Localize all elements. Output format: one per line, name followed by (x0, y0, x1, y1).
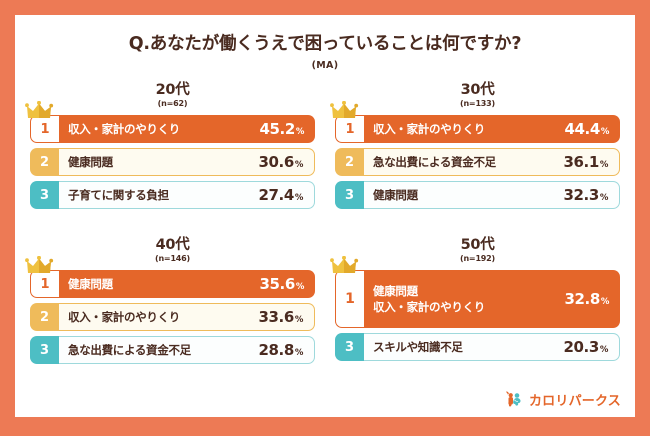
ranking-row[interactable]: 3健康問題32.3% (335, 181, 620, 209)
question-type-note: (MA) (15, 60, 635, 71)
answer-label: 健康問題 (68, 276, 259, 293)
answer-label: スキルや知識不足 (373, 339, 563, 356)
panel-sample-size: (n=133) (335, 98, 620, 109)
answer-percentage: 27.4% (258, 186, 303, 204)
panel-heading: 30代(n=133) (335, 83, 620, 109)
ranking-list: 1健康問題35.6%2収入・家計のやりくり33.6%3急な出費による資金不足28… (30, 270, 315, 364)
ranking-bar: 子育てに関する負担27.4% (52, 181, 315, 209)
rank-badge: 2 (30, 303, 59, 331)
answer-label: 健康問題 (68, 154, 258, 171)
panel-50s: 50代(n=192)1健康問題 収入・家計のやりくり32.8%3スキルや知識不足… (335, 238, 620, 366)
ranking-bar: 健康問題32.3% (357, 181, 620, 209)
ranking-bar: 収入・家計のやりくり45.2% (52, 115, 315, 143)
brand-name: カロリパークス (529, 390, 621, 409)
ranking-list: 1収入・家計のやりくり45.2%2健康問題30.6%3子育てに関する負担27.4… (30, 115, 315, 209)
ranking-row[interactable]: 2収入・家計のやりくり33.6% (30, 303, 315, 331)
poster-background: Q.あなたが働くうえで困っていることは何ですか? (MA) 20代(n=62)1… (0, 0, 650, 436)
header: Q.あなたが働くうえで困っていることは何ですか? (MA) (15, 15, 635, 71)
percent-sign: % (601, 127, 609, 137)
rank-badge: 1 (335, 270, 364, 328)
panel-heading: 20代(n=62) (30, 83, 315, 109)
answer-percentage: 35.6% (259, 275, 304, 293)
percentage-number: 27.4 (258, 186, 293, 204)
panel-heading: 50代(n=192) (335, 238, 620, 264)
percent-sign: % (296, 282, 304, 292)
percent-sign: % (601, 297, 609, 307)
ranking-bar: 急な出費による資金不足28.8% (52, 336, 315, 364)
ranking-bar: 健康問題35.6% (52, 270, 315, 298)
ranking-bar: スキルや知識不足20.3% (357, 333, 620, 361)
panel-30s: 30代(n=133)1収入・家計のやりくり44.4%2急な出費による資金不足36… (335, 83, 620, 214)
rank-badge: 3 (335, 181, 364, 209)
answer-percentage: 32.8% (564, 290, 609, 308)
ranking-list: 1健康問題 収入・家計のやりくり32.8%3スキルや知識不足20.3% (335, 270, 620, 361)
percentage-number: 44.4 (564, 120, 599, 138)
percent-sign: % (295, 315, 303, 325)
ranking-row[interactable]: 1収入・家計のやりくり44.4% (335, 115, 620, 143)
answer-percentage: 44.4% (564, 120, 609, 138)
answer-percentage: 45.2% (259, 120, 304, 138)
ranking-row[interactable]: 1収入・家計のやりくり45.2% (30, 115, 315, 143)
percent-sign: % (600, 160, 608, 170)
ranking-list: 1収入・家計のやりくり44.4%2急な出費による資金不足36.1%3健康問題32… (335, 115, 620, 209)
rank-badge: 1 (30, 270, 59, 298)
panel-age-label: 20代 (30, 83, 315, 98)
ranking-row[interactable]: 1健康問題 収入・家計のやりくり32.8% (335, 270, 620, 328)
percentage-number: 33.6 (258, 308, 293, 326)
percentage-number: 20.3 (563, 338, 598, 356)
panel-sample-size: (n=62) (30, 98, 315, 109)
rank-badge: 1 (30, 115, 59, 143)
rank-badge: 2 (335, 148, 364, 176)
answer-percentage: 28.8% (258, 341, 303, 359)
panel-sample-size: (n=192) (335, 253, 620, 264)
percentage-number: 30.6 (258, 153, 293, 171)
rank-badge: 3 (30, 181, 59, 209)
panel-age-label: 50代 (335, 238, 620, 253)
ranking-bar: 収入・家計のやりくり33.6% (52, 303, 315, 331)
percentage-number: 28.8 (258, 341, 293, 359)
panel-age-label: 40代 (30, 238, 315, 253)
rank-badge: 3 (335, 333, 364, 361)
ranking-bar: 急な出費による資金不足36.1% (357, 148, 620, 176)
percent-sign: % (295, 348, 303, 358)
ranking-row[interactable]: 2健康問題30.6% (30, 148, 315, 176)
answer-label: 収入・家計のやりくり (373, 121, 564, 138)
answer-percentage: 36.1% (563, 153, 608, 171)
answer-percentage: 30.6% (258, 153, 303, 171)
percent-sign: % (600, 345, 608, 355)
rank-badge: 3 (30, 336, 59, 364)
ranking-row[interactable]: 1健康問題35.6% (30, 270, 315, 298)
percentage-number: 32.3 (563, 186, 598, 204)
content-card: Q.あなたが働くうえで困っていることは何ですか? (MA) 20代(n=62)1… (15, 15, 635, 417)
percentage-number: 35.6 (259, 275, 294, 293)
answer-percentage: 20.3% (563, 338, 608, 356)
rank-badge: 1 (335, 115, 364, 143)
answer-label: 健康問題 収入・家計のやりくり (373, 283, 564, 316)
ranking-row[interactable]: 3子育てに関する負担27.4% (30, 181, 315, 209)
percentage-number: 36.1 (563, 153, 598, 171)
answer-label: 収入・家計のやりくり (68, 309, 258, 326)
panel-20s: 20代(n=62)1収入・家計のやりくり45.2%2健康問題30.6%3子育てに… (30, 83, 315, 214)
answer-percentage: 33.6% (258, 308, 303, 326)
answer-label: 急な出費による資金不足 (373, 154, 563, 171)
percent-sign: % (295, 160, 303, 170)
calori-parks-figure-icon (504, 389, 524, 409)
ranking-bar: 健康問題 収入・家計のやりくり32.8% (357, 270, 620, 328)
rank-badge: 2 (30, 148, 59, 176)
percent-sign: % (600, 193, 608, 203)
percentage-number: 45.2 (259, 120, 294, 138)
page-title: Q.あなたが働くうえで困っていることは何ですか? (15, 30, 635, 55)
ranking-row[interactable]: 2急な出費による資金不足36.1% (335, 148, 620, 176)
ranking-bar: 収入・家計のやりくり44.4% (357, 115, 620, 143)
brand-logo[interactable]: カロリパークス (504, 389, 621, 409)
panel-age-label: 30代 (335, 83, 620, 98)
answer-percentage: 32.3% (563, 186, 608, 204)
answer-label: 急な出費による資金不足 (68, 342, 258, 359)
panel-sample-size: (n=146) (30, 253, 315, 264)
percent-sign: % (296, 127, 304, 137)
ranking-row[interactable]: 3急な出費による資金不足28.8% (30, 336, 315, 364)
panel-40s: 40代(n=146)1健康問題35.6%2収入・家計のやりくり33.6%3急な出… (30, 238, 315, 369)
ranking-bar: 健康問題30.6% (52, 148, 315, 176)
percentage-number: 32.8 (564, 290, 599, 308)
percent-sign: % (295, 193, 303, 203)
answer-label: 健康問題 (373, 187, 563, 204)
ranking-row[interactable]: 3スキルや知識不足20.3% (335, 333, 620, 361)
panel-heading: 40代(n=146) (30, 238, 315, 264)
answer-label: 収入・家計のやりくり (68, 121, 259, 138)
answer-label: 子育てに関する負担 (68, 187, 258, 204)
